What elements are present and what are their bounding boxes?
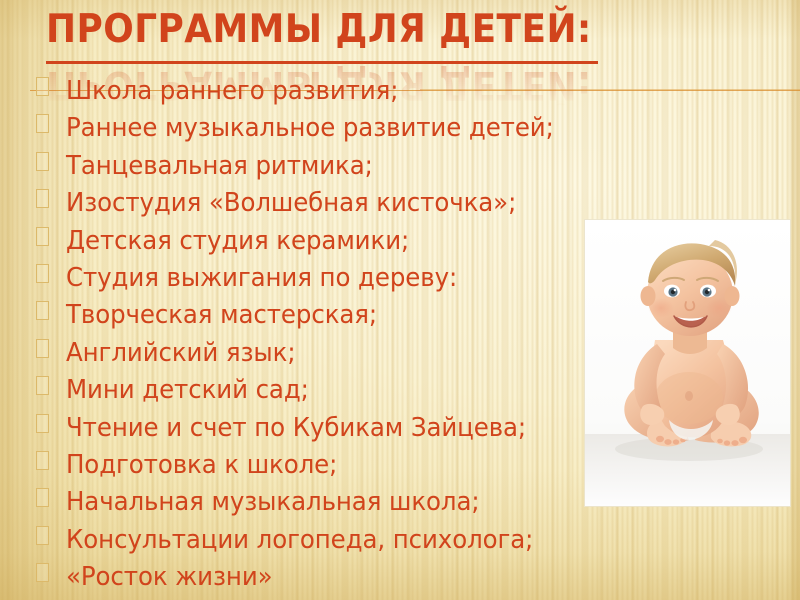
list-item[interactable]: Подготовка к школе;: [0, 450, 800, 487]
list-item-label: Подготовка к школе;: [66, 450, 337, 480]
list-item-label: Английский язык;: [66, 338, 296, 368]
list-item[interactable]: Начальная музыкальная школа;: [0, 487, 800, 524]
box-bullet-icon: [36, 189, 49, 208]
box-bullet-icon: [36, 264, 49, 283]
list-item-label: Чтение и счет по Кубикам Зайцева;: [66, 413, 526, 443]
list-item-label: «Росток жизни»: [66, 562, 273, 592]
list-item[interactable]: Чтение и счет по Кубикам Зайцева;: [0, 413, 800, 450]
list-item[interactable]: Танцевальная ритмика;: [0, 151, 800, 188]
list-item-label: Начальная музыкальная школа;: [66, 487, 480, 517]
list-item-label: Школа раннего развития;: [66, 76, 398, 106]
list-item[interactable]: Студия выжигания по дереву:: [0, 263, 800, 300]
box-bullet-icon: [36, 152, 49, 171]
box-bullet-icon: [36, 227, 49, 246]
list-item-label: Творческая мастерская;: [66, 300, 377, 330]
list-item[interactable]: Раннее музыкальное развитие детей;: [0, 113, 800, 150]
box-bullet-icon: [36, 376, 49, 395]
box-bullet-icon: [36, 114, 49, 133]
list-item[interactable]: Консультации логопеда, психолога;: [0, 525, 800, 562]
list-item[interactable]: Мини детский сад;: [0, 375, 800, 412]
presentation-slide: ПРОГРАММЫ ДЛЯ ДЕТЕЙ: ПРОГРАММЫ ДЛЯ ДЕТЕЙ…: [0, 0, 800, 600]
list-item[interactable]: «Росток жизни»: [0, 562, 800, 599]
page-title-text: ПРОГРАММЫ ДЛЯ ДЕТЕЙ:: [46, 8, 592, 52]
box-bullet-icon: [36, 339, 49, 358]
program-list: Школа раннего развития; Раннее музыкальн…: [0, 76, 800, 599]
box-bullet-icon: [36, 451, 49, 470]
title-underline: [46, 61, 598, 64]
box-bullet-icon: [36, 526, 49, 545]
list-item-label: Раннее музыкальное развитие детей;: [66, 113, 554, 143]
box-bullet-icon: [36, 488, 49, 507]
list-item-label: Консультации логопеда, психолога;: [66, 525, 533, 555]
box-bullet-icon: [36, 77, 49, 96]
list-item-label: Мини детский сад;: [66, 375, 309, 405]
box-bullet-icon: [36, 563, 49, 582]
list-item[interactable]: Детская студия керамики;: [0, 226, 800, 263]
box-bullet-icon: [36, 414, 49, 433]
list-item[interactable]: Английский язык;: [0, 338, 800, 375]
box-bullet-icon: [36, 301, 49, 320]
list-item[interactable]: Школа раннего развития;: [0, 76, 800, 113]
list-item[interactable]: Изостудия «Волшебная кисточка»;: [0, 188, 800, 225]
list-item[interactable]: Творческая мастерская;: [0, 300, 800, 337]
list-item-label: Танцевальная ритмика;: [66, 151, 373, 181]
list-item-label: Студия выжигания по дереву:: [66, 263, 457, 293]
list-item-label: Детская студия керамики;: [66, 226, 409, 256]
list-item-label: Изостудия «Волшебная кисточка»;: [66, 188, 516, 218]
